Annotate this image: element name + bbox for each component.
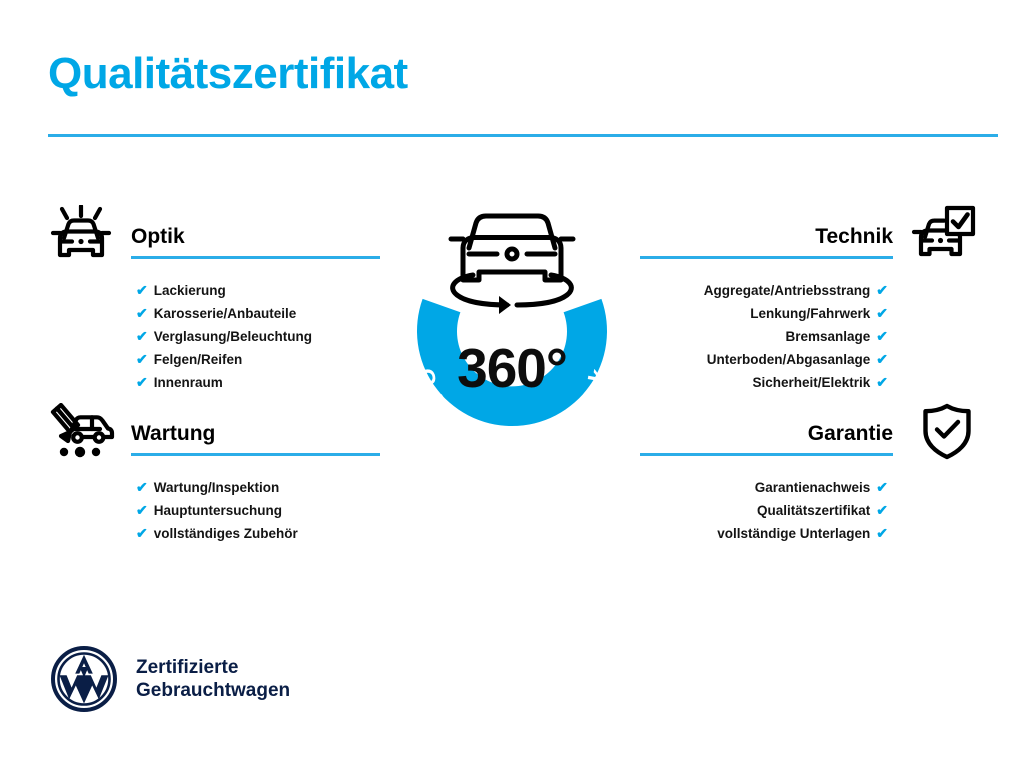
check-icon: ✔ [876, 348, 888, 371]
section-technik: Technik Aggregate/Antriebsstrang✔ Lenkun… [640, 203, 976, 394]
list-item: ✔Karosserie/Anbauteile [136, 302, 380, 325]
list-item-label: Sicherheit/Elektrik [752, 371, 870, 394]
list-item: ✔vollständiges Zubehör [136, 522, 380, 545]
section-technik-header: Technik [640, 203, 976, 265]
brand-block: Zertifizierte Gebrauchtwagen [50, 645, 290, 713]
check-icon: ✔ [876, 325, 888, 348]
list-item: ✔Hauptuntersuchung [136, 499, 380, 522]
certificate-page: Qualitätszertifikat [0, 0, 1024, 768]
volkswagen-logo-icon [50, 645, 118, 713]
section-garantie-title: Garantie [808, 422, 893, 446]
check-icon: ✔ [876, 371, 888, 394]
section-technik-divider [640, 256, 893, 259]
brand-line-2: Gebrauchtwagen [136, 679, 290, 702]
list-item: ✔Lackierung [136, 279, 380, 302]
section-optik-title: Optik [131, 225, 185, 249]
title-divider [48, 134, 998, 137]
section-wartung-list: ✔Wartung/Inspektion ✔Hauptuntersuchung ✔… [48, 476, 380, 545]
check-icon: ✔ [876, 476, 888, 499]
list-item-label: Karosserie/Anbauteile [154, 302, 297, 325]
check-icon: ✔ [136, 325, 148, 348]
check-icon: ✔ [136, 499, 148, 522]
check-icon: ✔ [136, 302, 148, 325]
section-garantie: Garantie Garantienachweis✔ Qualitätszert… [640, 400, 976, 545]
section-garantie-list: Garantienachweis✔ Qualitätszertifikat✔ v… [640, 476, 976, 545]
shield-check-icon [900, 400, 976, 462]
check-icon: ✔ [136, 371, 148, 394]
check-icon: ✔ [136, 279, 148, 302]
list-item-label: Wartung/Inspektion [154, 476, 280, 499]
car-front-checkbox-icon [900, 203, 976, 265]
check-icon: ✔ [876, 499, 888, 522]
list-item: ✔Verglasung/Beleuchtung [136, 325, 380, 348]
section-optik-header: Optik [48, 203, 380, 265]
section-optik: Optik ✔Lackierung ✔Karosserie/Anbauteile… [48, 203, 380, 394]
list-item: Garantienachweis✔ [640, 476, 888, 499]
list-item: vollständige Unterlagen✔ [640, 522, 888, 545]
pencil-car-service-icon [48, 400, 124, 462]
car-front-rotate-icon [451, 216, 573, 314]
list-item-label: Bremsanlage [785, 325, 870, 348]
section-wartung: Wartung ✔Wartung/Inspektion ✔Hauptunters… [48, 400, 380, 545]
badge-number: 360° [373, 336, 651, 400]
list-item: Bremsanlage✔ [640, 325, 888, 348]
list-item-label: Garantienachweis [755, 476, 871, 499]
check-icon: ✔ [876, 279, 888, 302]
brand-line-1: Zertifizierte [136, 656, 290, 679]
section-wartung-title: Wartung [131, 422, 215, 446]
check-icon: ✔ [136, 348, 148, 371]
list-item: ✔Wartung/Inspektion [136, 476, 380, 499]
list-item: Sicherheit/Elektrik✔ [640, 371, 888, 394]
list-item: Aggregate/Antriebsstrang✔ [640, 279, 888, 302]
list-item-label: Felgen/Reifen [154, 348, 243, 371]
check-icon: ✔ [876, 522, 888, 545]
check-icon: ✔ [876, 302, 888, 325]
list-item: Unterboden/Abgasanlage✔ [640, 348, 888, 371]
list-item-label: vollständige Unterlagen [717, 522, 870, 545]
section-optik-list: ✔Lackierung ✔Karosserie/Anbauteile ✔Verg… [48, 279, 380, 394]
list-item: ✔Felgen/Reifen [136, 348, 380, 371]
brand-text: Zertifizierte Gebrauchtwagen [136, 656, 290, 702]
section-optik-divider [131, 256, 380, 259]
list-item-label: Verglasung/Beleuchtung [154, 325, 312, 348]
list-item-label: Innenraum [154, 371, 223, 394]
list-item: Lenkung/Fahrwerk✔ [640, 302, 888, 325]
badge-360-check: Gebrauchtwagen-Check 360° [373, 196, 651, 486]
list-item-label: Unterboden/Abgasanlage [707, 348, 871, 371]
list-item-label: Hauptuntersuchung [154, 499, 282, 522]
section-wartung-divider [131, 453, 380, 456]
list-item: ✔Innenraum [136, 371, 380, 394]
section-technik-title: Technik [815, 225, 893, 249]
car-front-lights-icon [48, 203, 124, 265]
check-icon: ✔ [136, 476, 148, 499]
section-wartung-header: Wartung [48, 400, 380, 462]
section-garantie-header: Garantie [640, 400, 976, 462]
section-technik-list: Aggregate/Antriebsstrang✔ Lenkung/Fahrwe… [640, 279, 976, 394]
section-garantie-divider [640, 453, 893, 456]
list-item-label: vollständiges Zubehör [154, 522, 298, 545]
page-title: Qualitätszertifikat [48, 50, 408, 98]
list-item-label: Qualitätszertifikat [757, 499, 870, 522]
list-item-label: Lackierung [154, 279, 226, 302]
list-item: Qualitätszertifikat✔ [640, 499, 888, 522]
check-icon: ✔ [136, 522, 148, 545]
list-item-label: Aggregate/Antriebsstrang [704, 279, 871, 302]
list-item-label: Lenkung/Fahrwerk [750, 302, 870, 325]
